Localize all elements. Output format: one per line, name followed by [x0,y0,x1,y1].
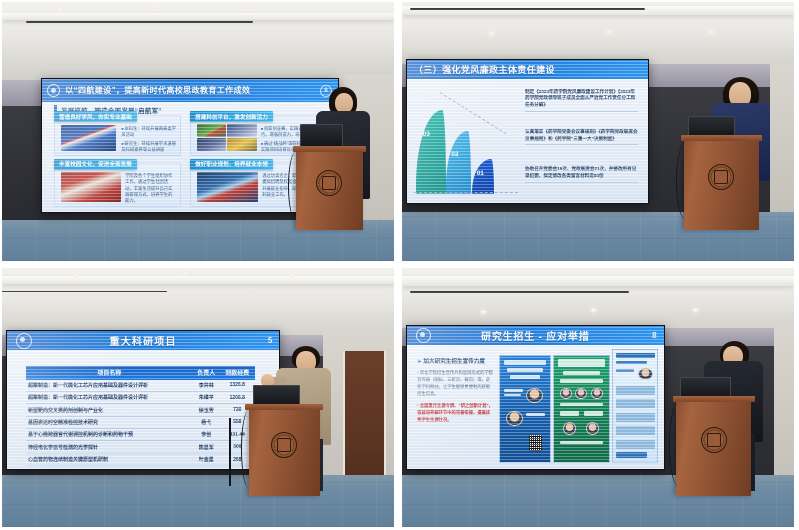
cell-project-name: 心血管药物连续制造关键原型机研制 [26,453,193,465]
poster-bar [616,369,635,372]
table-row: 超聚制造：新一代微化工芯片应用基础及器件设计评析 朱维平 1206.8 [26,391,255,403]
poster-bar [616,440,655,449]
poster-bar [560,411,580,416]
poster-bar [560,403,604,406]
poster-bar [616,426,655,435]
downlight-icon [151,5,158,9]
poster-portrait [591,388,603,400]
downlight-icon [590,308,597,312]
poster-portrait [638,368,653,380]
table-header-cell: 负责人 [193,366,220,380]
downlight-icon [692,308,699,312]
cable [676,142,696,220]
panel-top-right: （三）强化党风廉政主体责任建设 03 02 01 制定《2023年药学院党风廉政… [402,2,794,261]
slide-card-thumbnail [61,172,121,202]
slide-title-bar: 重大科研项目 5 [7,331,279,350]
panel-bottom-right: 研究生招生 - 应对举措 8 加大研究生招生宣传力度 转化学院招生宣传片和思辨形… [402,268,794,527]
wall-right [774,325,794,486]
cell-project-name: 基于心微跨器官代谢调控机制的诊断和药物干预 [26,429,193,441]
cell-funding: 1206.8 [220,391,255,403]
poster-bar [504,389,523,392]
poster-bar [504,394,521,396]
qr-code-icon [529,435,542,451]
slide-title-bar: 研究生招生 - 应对举措 8 [407,326,664,345]
poster-bar [616,452,647,458]
ceiling-beam [2,13,394,20]
poster-bar [616,386,655,395]
table-row: 基因表达时空精准检控技术研究 杨弋 558 [26,416,255,428]
cable [241,410,257,488]
poster-bar [504,360,545,365]
projection-screen: 研究生招生 - 应对举措 8 加大研究生招生宣传力度 转化学院招生宣传片和思辨形… [406,325,665,470]
cell-project-name: 基因表达时空精准检控技术研究 [26,416,193,428]
project-table: 项目名称 负责人 到款经费 超聚制造：新一代微化工芯片应用基础及器件设计评析 李… [26,366,255,467]
slide-bullet-secondary: 转化学院招生宣传片和思辨形式的学院宣传册（图标、三折页、微页）等，走新学科网站，… [417,370,494,398]
laptop-screen [688,116,735,137]
cell-leader: 陈显军 [193,441,220,453]
cell-leader: 徐玉芳 [193,404,220,416]
ceiling-air-slot [2,291,167,293]
cell-leader: 杨弋 [193,416,220,428]
ceiling-beam [2,276,394,284]
cell-leader: 李创 [193,429,220,441]
poster-cyan [612,349,658,463]
downlight-icon [182,271,189,275]
slide-bullet-primary: 加大研究生招生宣传力度 [417,357,494,365]
projection-screen: （三）强化党风廉政主体责任建设 03 02 01 制定《2023年药学院党风廉政… [406,59,649,204]
slide-card-heading: 做好职业规划，培养就业本领 [190,159,273,170]
slide-card-heading: 营造良好学风，夯实专业基础 [54,111,137,122]
slide-title-bar: （三）强化党风廉政主体责任建设 [407,60,648,79]
slide-card: 丰富校园文化，促进全面发展 学院及各个学生组织协作工作，通过学生社团活动，丰富生… [54,163,181,207]
poster-portrait [506,411,523,426]
table-header-cell: 到款经费 [220,366,255,380]
cable [669,403,689,486]
downlight-icon [73,273,80,277]
cell-project-name: 新型靶向交叉类药剂创制与产业化 [26,404,193,416]
floor [2,475,394,527]
chart-guide-line [414,192,518,193]
ceiling [2,2,394,82]
podium-top [293,146,366,152]
sail-bar-03 [416,110,446,195]
slide-card-bullets: 本科生：持续开展两表类学风活动 研究生：持续开展学术道德及科研素养等公益讲座 [121,126,176,154]
table-row: 神经电化学信号检测的光学探针 陈显军 300 [26,441,255,453]
ceiling-beam [402,276,794,285]
poster-portrait [563,422,576,435]
downlight-icon [708,30,715,34]
poster-bar [507,368,543,371]
slide-title-bar: 以“四航建设”，提高新时代高校思政教育工作成效 8 [42,79,338,102]
slide-card-thumbnail [227,124,257,137]
cell-project-name: 超聚制造：新一代微化工芯片应用基础及器件设计评析 [26,391,193,403]
podium-top [681,135,763,141]
poster-bar [558,359,606,368]
podium [296,150,363,230]
downlight-icon [245,5,252,9]
slide-bullet-highlight: 全国夏月生源令牌、“研之创新计划”，造就培养解环节中的完善衔接，提高优秀学生生源… [417,403,494,424]
slide-card-thumbnail [197,124,227,137]
podium-emblem-icon [708,164,734,190]
slide-bullet-list: 加大研究生招生宣传力度 转化学院招生宣传片和思辨形式的学院宣传册（图标、三折页、… [417,357,494,423]
poster-bar [526,413,545,416]
podium [249,408,320,496]
photo-grid: 以“四航建设”，提高新时代高校思政教育工作成效 8 发展巡航、塑造全面发展“启航… [0,0,799,530]
poster-bar [584,411,604,416]
poster-bar [563,371,600,375]
poster-bar [616,361,647,364]
sail-label-03: 03 [423,131,430,138]
poster-bar [616,399,655,408]
panel-bottom-left: 重大科研项目 5 项目名称 负责人 到款经费 超聚制造：新一代微化工芯片应用基础… [2,268,394,527]
sail-chart: 03 02 01 [414,86,520,195]
slide-title: （三）强化党风廉政主体责任建设 [414,63,555,76]
slide-title: 以“四航建设”，提高新时代高校思政教育工作成效 [65,85,250,96]
podium-emblem-icon [316,170,342,196]
downlight-icon [480,310,487,314]
cell-project-name: 神经电化学信号检测的光学探针 [26,441,193,453]
poster-portrait [575,388,587,400]
slide-card-bullets: 学院及各个学生组织协作工作，通过学生社团活动，丰富生活提升自己实践管理方式，培养… [125,173,176,204]
panel-top-left: 以“四航建设”，提高新时代高校思政教育工作成效 8 发展巡航、塑造全面发展“启航… [2,2,394,261]
projection-screen: 重大科研项目 5 项目名称 负责人 到款经费 超聚制造：新一代微化工芯片应用基础… [6,330,280,470]
poster-portrait [586,422,599,435]
sail-label-02: 02 [451,151,458,158]
table-header-cell: 项目名称 [26,366,193,380]
door[interactable] [343,351,386,475]
downlight-icon [606,30,613,34]
laptop-screen [300,124,343,147]
slide-card-thumbnail [61,125,116,152]
poster-bar [616,353,655,357]
table-header-row: 项目名称 负责人 到款经费 [26,366,255,380]
poster-portrait [560,388,572,400]
ceiling-air-slot [26,21,253,23]
slide-title: 重大科研项目 [110,333,177,348]
laptop-screen [680,377,731,398]
downlight-icon [488,31,495,35]
table-row: 超聚制造：新一代微化工芯片应用基础及器件设计评析 李井林 1326.8 [26,380,255,392]
wall-right [770,64,794,219]
slide-card-thumbnail [227,138,257,151]
table-row: 基于心微跨器官代谢调控机制的诊断和药物干预 李创 431.44 [26,429,255,441]
laptop-screen [253,385,300,406]
ceiling-air-slot [410,8,645,10]
chart-guide-line [439,92,506,134]
ceiling-air-slot [410,291,630,293]
cell-funding: 1326.8 [220,380,255,392]
slide-card-thumbnail [197,138,227,151]
podium-top [673,396,755,402]
cable [288,152,304,219]
cell-leader: 李井林 [193,380,220,392]
poster-portrait [526,388,543,403]
poster-blue [499,355,550,464]
podium-emblem-icon [271,432,297,458]
table-row: 新型靶向交叉类药剂创制与产业化 徐玉芳 730 [26,404,255,416]
cell-project-name: 超聚制造：新一代微化工芯片应用基础及器件设计评析 [26,380,193,392]
podium-emblem-icon [701,427,727,453]
university-logo-icon [416,328,431,343]
poster-green [553,355,609,464]
podium-top [245,404,323,410]
university-logo-icon [47,84,60,97]
poster-bar [510,375,540,379]
slide-card-heading: 搭建科创平台，激发创新活力 [190,111,273,122]
downlight-icon [57,7,64,11]
university-logo-icon [16,333,32,349]
poster-bar [560,441,604,444]
slide-card: 营造良好学风，夯实专业基础 本科生：持续开展两表类学风活动 研究生：持续开展学术… [54,115,181,156]
slide-text-block: 认真落实《药学院党委会议事规则》《药学院党政联席会议事规则》和《药学院“三重一大… [525,129,638,146]
slide-text-block: 制定《2023年药学院党风廉政建设工作计划》《2023年药学院党政领导班子成员全… [525,89,638,113]
table-row: 心血管药物连续制造关键原型机研制 叶金星 268 [26,453,255,465]
slide-card-thumbnail [197,172,259,202]
slide-card-heading: 丰富校园文化，促进全面发展 [54,159,137,170]
sail-bar-02 [446,131,471,194]
slide-text-block: 协助召开党委会16次、党政联席会21次，并修改所有记录纪要，拟定修改各类留言材料… [525,166,638,183]
poster-bar [616,413,655,422]
mic-stand [229,418,231,485]
page-number: 5 [268,336,272,345]
sail-label-01: 01 [477,170,484,177]
slide-title: 研究生招生 - 应对举措 [481,328,590,343]
page-number: 8 [652,331,656,340]
poster-bar [560,379,604,383]
cell-leader: 叶金星 [193,453,220,465]
downlight-icon [288,273,295,277]
cell-leader: 朱维平 [193,391,220,403]
